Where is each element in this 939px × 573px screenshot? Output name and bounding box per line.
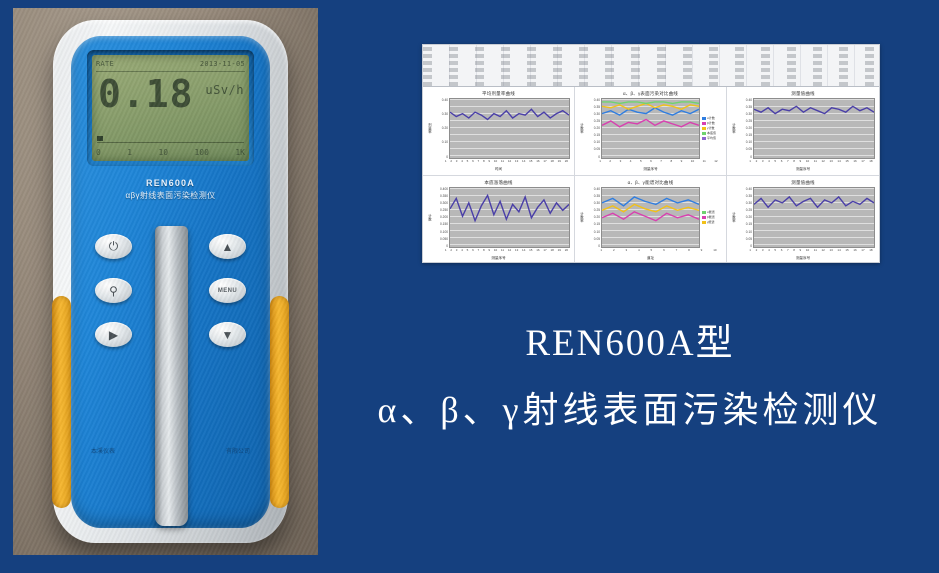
x-tick: 4 — [461, 159, 463, 166]
x-tick: 3 — [762, 159, 764, 166]
x-tick: 9 — [800, 159, 802, 166]
title-block: REN600A型 α、β、γ射线表面污染检测仪 — [330, 318, 930, 440]
x-tick: 9 — [488, 159, 490, 166]
x-tick: 14 — [522, 159, 525, 166]
legend-label: α能谱 — [707, 210, 715, 214]
x-tick: 3 — [456, 248, 458, 255]
x-tick: 14 — [522, 248, 525, 255]
play-icon: ▶ — [109, 328, 118, 342]
chevron-down-icon: ▼ — [222, 328, 234, 342]
chart-plot-area — [753, 98, 875, 159]
legend-item: α计数 — [702, 116, 722, 120]
lcd-status-left: RATE — [96, 60, 114, 68]
chart-legend: α计数β计数γ计数本底值平均值 — [700, 98, 722, 159]
x-tick: 4 — [461, 248, 463, 255]
x-tick: 20 — [565, 248, 568, 255]
y-tick: 0.350 — [433, 194, 448, 198]
y-tick: 0.25 — [737, 208, 752, 212]
x-tick: 17 — [861, 248, 864, 255]
chart-title: 测量值曲线 — [731, 90, 875, 98]
play-button[interactable]: ▶ — [95, 322, 132, 347]
legend-item: γ计数 — [702, 126, 722, 130]
lcd-status-bar: RATE 2013-11-05 — [96, 57, 245, 70]
device-footer-right: 有限公司 — [226, 446, 250, 455]
y-tick: 0.30 — [585, 201, 600, 205]
x-tick: 5 — [467, 248, 469, 255]
chart-x-ticks: 12345678910 — [579, 248, 722, 255]
y-tick: 0.30 — [433, 112, 448, 116]
device-footer-print: 本溪仪表 有限公司 — [71, 446, 270, 455]
chart-panel: 平均剂量率曲线剂量率0.400.300.200.1001234567891011… — [423, 87, 575, 176]
legend-label: γ计数 — [707, 126, 715, 130]
y-tick: 0.10 — [433, 140, 448, 144]
lcd-scale-tick: 100 — [194, 148, 208, 159]
y-tick: 0.35 — [585, 194, 600, 198]
chart-panel: 测量值曲线计数率0.400.350.300.250.200.150.100.05… — [727, 176, 879, 264]
legend-swatch — [702, 137, 706, 140]
x-tick: 3 — [620, 159, 622, 166]
power-button[interactable]: ⏻ — [95, 234, 132, 259]
lcd-scale-tick: 10 — [158, 148, 168, 159]
menu-button-label: MENU — [218, 288, 237, 294]
chart-x-ticks: 123456789101112131415161718 — [731, 159, 875, 166]
device-handle — [155, 226, 188, 526]
x-tick: 2 — [450, 159, 452, 166]
x-tick: 2 — [613, 248, 615, 255]
x-tick: 13 — [515, 248, 518, 255]
legend-swatch — [702, 117, 706, 120]
x-tick: 1 — [749, 248, 751, 255]
y-tick: 0.20 — [737, 126, 752, 130]
x-tick: 2 — [450, 248, 452, 255]
chart-x-ticks: 123456789101112 — [579, 159, 722, 166]
x-tick: 10 — [691, 159, 694, 166]
charts-grid: 平均剂量率曲线剂量率0.400.300.200.1001234567891011… — [423, 87, 879, 263]
lcd-scale-tick: 1K — [235, 148, 245, 159]
x-tick: 19 — [558, 159, 561, 166]
legend-swatch — [702, 221, 706, 224]
x-tick: 6 — [663, 248, 665, 255]
x-tick: 7 — [660, 159, 662, 166]
menu-button[interactable]: MENU — [209, 278, 246, 303]
x-tick: 4 — [638, 248, 640, 255]
lcd-scale-tick: 0 — [96, 148, 101, 159]
device-footer-left: 本溪仪表 — [91, 446, 115, 455]
x-tick: 15 — [529, 248, 532, 255]
x-tick: 16 — [536, 248, 539, 255]
x-tick: 10 — [806, 248, 809, 255]
chart-plot-area — [753, 187, 875, 249]
device-front-face: RATE 2013-11-05 0.18 uSv/h 0 1 10 100 1K — [71, 36, 270, 528]
x-tick: 16 — [536, 159, 539, 166]
key-icon: ⚲ — [109, 284, 118, 298]
x-tick: 5 — [651, 248, 653, 255]
lcd-status-right: 2013-11-05 — [200, 60, 245, 68]
x-tick: 10 — [806, 159, 809, 166]
x-tick: 2 — [756, 248, 758, 255]
chart-x-axis-label: 测量序号 — [579, 166, 722, 172]
legend-item: β计数 — [702, 121, 722, 125]
y-tick: 0.35 — [585, 105, 600, 109]
chart-title: 本底涨落曲线 — [427, 179, 570, 187]
x-tick: 4 — [768, 248, 770, 255]
chart-x-axis-label: 道址 — [579, 255, 722, 261]
y-tick: 0.15 — [737, 133, 752, 137]
legend-label: β计数 — [707, 121, 715, 125]
product-photo: RATE 2013-11-05 0.18 uSv/h 0 1 10 100 1K — [13, 8, 318, 555]
lcd-scale: 0 1 10 100 1K — [96, 148, 245, 159]
chart-legend: α能谱β能谱γ能谱 — [700, 187, 722, 249]
legend-item: α能谱 — [702, 210, 722, 214]
x-tick: 7 — [676, 248, 678, 255]
x-tick: 5 — [774, 159, 776, 166]
x-tick: 8 — [483, 159, 485, 166]
x-tick: 13 — [515, 159, 518, 166]
lcd-reading-unit: uSv/h — [205, 83, 244, 97]
chart-plot-area — [449, 98, 570, 159]
y-tick: 0.250 — [433, 208, 448, 212]
y-tick: 0.20 — [585, 126, 600, 130]
y-tick: 0.35 — [737, 194, 752, 198]
x-tick: 10 — [494, 248, 497, 255]
x-tick: 9 — [800, 248, 802, 255]
x-tick: 5 — [774, 248, 776, 255]
x-tick: 6 — [472, 159, 474, 166]
y-tick: 0.40 — [737, 98, 752, 102]
chevron-up-icon: ▲ — [222, 240, 234, 254]
y-tick: 0.40 — [585, 187, 600, 191]
lcd-reading-value: 0.18 — [98, 75, 194, 113]
x-tick: 8 — [483, 248, 485, 255]
y-tick: 0.35 — [737, 105, 752, 109]
device-model-cn-text: αβγ射线表面污染检测仪 — [71, 190, 270, 201]
x-tick: 15 — [845, 159, 848, 166]
software-screenshot-panel: 平均剂量率曲线剂量率0.400.300.200.1001234567891011… — [422, 44, 880, 263]
chart-title: α、β、γ表面污染对比曲线 — [579, 90, 722, 98]
x-tick: 1 — [749, 159, 751, 166]
x-tick: 9 — [488, 248, 490, 255]
chart-title: α、β、γ能谱对比曲线 — [579, 179, 722, 187]
y-tick: 0.050 — [433, 237, 448, 241]
x-tick: 4 — [768, 159, 770, 166]
lcd-bezel: RATE 2013-11-05 0.18 uSv/h 0 1 10 100 1K — [87, 50, 254, 166]
legend-label: α计数 — [707, 116, 715, 120]
x-tick: 15 — [529, 159, 532, 166]
x-tick: 19 — [558, 248, 561, 255]
chart-y-ticks: 0.400.350.300.250.200.150.100.050 — [585, 187, 601, 249]
y-tick: 0.300 — [433, 201, 448, 205]
y-tick: 0.30 — [737, 112, 752, 116]
device-brand-label: REN600A αβγ射线表面污染检测仪 — [71, 178, 270, 201]
chart-x-axis-label: 测量序号 — [427, 255, 570, 261]
legend-swatch — [702, 132, 706, 135]
slide-canvas: RATE 2013-11-05 0.18 uSv/h 0 1 10 100 1K — [0, 0, 939, 573]
side-grip-left — [52, 296, 71, 508]
x-tick: 12 — [822, 159, 825, 166]
y-tick: 0.25 — [585, 208, 600, 212]
legend-swatch — [702, 216, 706, 219]
chart-panel: α、β、γ能谱对比曲线计数率0.400.350.300.250.200.150.… — [575, 176, 727, 264]
chart-y-ticks: 0.400.350.300.250.200.150.100.050 — [737, 98, 753, 159]
x-tick: 12 — [822, 248, 825, 255]
chart-y-ticks: 0.4000.3500.3000.2500.2000.1500.1000.050… — [433, 187, 449, 249]
x-tick: 5 — [467, 159, 469, 166]
side-grip-right — [270, 296, 289, 508]
chart-x-axis-label: 测量序号 — [731, 255, 875, 261]
chart-x-axis-label: 测量序号 — [731, 166, 875, 172]
x-tick: 1 — [599, 159, 601, 166]
x-tick: 7 — [787, 248, 789, 255]
chart-y-ticks: 0.400.350.300.250.200.150.100.050 — [585, 98, 601, 159]
chart-y-ticks: 0.400.300.200.100 — [433, 98, 449, 159]
x-tick: 9 — [701, 248, 703, 255]
key-button[interactable]: ⚲ — [95, 278, 132, 303]
x-tick: 14 — [837, 159, 840, 166]
x-tick: 12 — [508, 248, 511, 255]
y-tick: 0.05 — [737, 147, 752, 151]
x-tick: 6 — [650, 159, 652, 166]
y-tick: 0.20 — [585, 215, 600, 219]
y-tick: 0.150 — [433, 222, 448, 226]
y-tick: 0.20 — [737, 215, 752, 219]
x-tick: 18 — [869, 248, 872, 255]
y-tick: 0.05 — [585, 147, 600, 151]
y-tick: 0.15 — [585, 133, 600, 137]
x-tick: 3 — [625, 248, 627, 255]
x-tick: 18 — [550, 248, 553, 255]
legend-swatch — [702, 211, 706, 214]
chart-panel: 测量值曲线计数率0.400.350.300.250.200.150.100.05… — [727, 87, 879, 176]
chart-title: 平均剂量率曲线 — [427, 90, 570, 98]
x-tick: 16 — [853, 159, 856, 166]
device-shell: RATE 2013-11-05 0.18 uSv/h 0 1 10 100 1K — [53, 20, 288, 543]
x-tick: 1 — [600, 248, 602, 255]
x-tick: 10 — [713, 248, 716, 255]
chart-x-axis-label: 时间 — [427, 166, 570, 172]
y-tick: 0.40 — [585, 98, 600, 102]
x-tick: 12 — [714, 159, 717, 166]
y-tick: 0.05 — [737, 237, 752, 241]
x-tick: 13 — [829, 248, 832, 255]
x-tick: 6 — [472, 248, 474, 255]
x-tick: 5 — [640, 159, 642, 166]
lcd-screen: RATE 2013-11-05 0.18 uSv/h 0 1 10 100 1K — [92, 55, 249, 161]
y-tick: 0.05 — [585, 237, 600, 241]
product-title-line2: α、β、γ射线表面污染检测仪 — [330, 380, 930, 440]
power-icon: ⏻ — [109, 239, 119, 254]
x-tick: 18 — [869, 159, 872, 166]
legend-item: β能谱 — [702, 215, 722, 219]
y-tick: 0.10 — [737, 230, 752, 234]
x-tick: 10 — [494, 159, 497, 166]
x-tick: 14 — [837, 248, 840, 255]
chart-x-ticks: 1234567891011121314151617181920 — [427, 159, 570, 166]
x-tick: 18 — [550, 159, 553, 166]
y-tick: 0.40 — [433, 98, 448, 102]
x-tick: 1 — [445, 159, 447, 166]
x-tick: 13 — [829, 159, 832, 166]
x-tick: 15 — [845, 248, 848, 255]
x-tick: 11 — [814, 248, 817, 255]
y-tick: 0.100 — [433, 230, 448, 234]
down-button[interactable]: ▼ — [209, 322, 246, 347]
x-tick: 17 — [543, 248, 546, 255]
legend-item: γ能谱 — [702, 220, 722, 224]
x-tick: 11 — [703, 159, 706, 166]
spreadsheet-cells — [423, 45, 879, 86]
lcd-scale-tick: 1 — [127, 148, 132, 159]
y-tick: 0.30 — [737, 201, 752, 205]
x-tick: 2 — [756, 159, 758, 166]
legend-swatch — [702, 127, 706, 130]
x-tick: 20 — [565, 159, 568, 166]
y-tick: 0.15 — [585, 222, 600, 226]
x-tick: 11 — [501, 159, 504, 166]
chart-plot-area — [449, 187, 570, 249]
data-spreadsheet — [423, 45, 879, 87]
x-tick: 4 — [630, 159, 632, 166]
legend-swatch — [702, 122, 706, 125]
y-tick: 0.400 — [433, 187, 448, 191]
product-title-line1: REN600A型 — [330, 318, 930, 370]
chart-plot-area — [601, 187, 700, 249]
x-tick: 8 — [670, 159, 672, 166]
x-tick: 7 — [478, 159, 480, 166]
legend-label: β能谱 — [707, 215, 715, 219]
y-tick: 0.30 — [585, 112, 600, 116]
chart-title: 测量值曲线 — [731, 179, 875, 187]
x-tick: 8 — [688, 248, 690, 255]
y-tick: 0.40 — [737, 187, 752, 191]
up-button[interactable]: ▲ — [209, 234, 246, 259]
device-model-text: REN600A — [71, 178, 270, 188]
y-tick: 0.10 — [737, 140, 752, 144]
legend-label: γ能谱 — [707, 220, 715, 224]
y-tick: 0.25 — [737, 119, 752, 123]
y-tick: 0.25 — [585, 119, 600, 123]
x-tick: 8 — [793, 248, 795, 255]
x-tick: 9 — [681, 159, 683, 166]
y-tick: 0.10 — [585, 140, 600, 144]
chart-x-ticks: 123456789101112131415161718 — [731, 248, 875, 255]
x-tick: 6 — [781, 159, 783, 166]
y-tick: 0.15 — [737, 222, 752, 226]
x-tick: 17 — [861, 159, 864, 166]
legend-item: 本底值 — [702, 131, 722, 135]
x-tick: 12 — [508, 159, 511, 166]
lcd-bargraph — [97, 138, 244, 143]
x-tick: 1 — [445, 248, 447, 255]
legend-label: 本底值 — [707, 131, 716, 135]
x-tick: 3 — [762, 248, 764, 255]
x-tick: 17 — [543, 159, 546, 166]
x-tick: 2 — [609, 159, 611, 166]
x-tick: 11 — [814, 159, 817, 166]
x-tick: 7 — [787, 159, 789, 166]
chart-panel: 本底涨落曲线计数0.4000.3500.3000.2500.2000.1500.… — [423, 176, 575, 264]
y-tick: 0.10 — [585, 230, 600, 234]
chart-x-ticks: 1234567891011121314151617181920 — [427, 248, 570, 255]
chart-plot-area — [601, 98, 700, 159]
x-tick: 7 — [478, 248, 480, 255]
x-tick: 8 — [793, 159, 795, 166]
x-tick: 6 — [781, 248, 783, 255]
chart-y-ticks: 0.400.350.300.250.200.150.100.050 — [737, 187, 753, 249]
chart-panel: α、β、γ表面污染对比曲线计数率0.400.350.300.250.200.15… — [575, 87, 727, 176]
legend-label: 平均值 — [707, 136, 716, 140]
x-tick: 11 — [501, 248, 504, 255]
x-tick: 16 — [853, 248, 856, 255]
legend-item: 平均值 — [702, 136, 722, 140]
y-tick: 0.20 — [433, 126, 448, 130]
x-tick: 3 — [456, 159, 458, 166]
y-tick: 0.200 — [433, 215, 448, 219]
